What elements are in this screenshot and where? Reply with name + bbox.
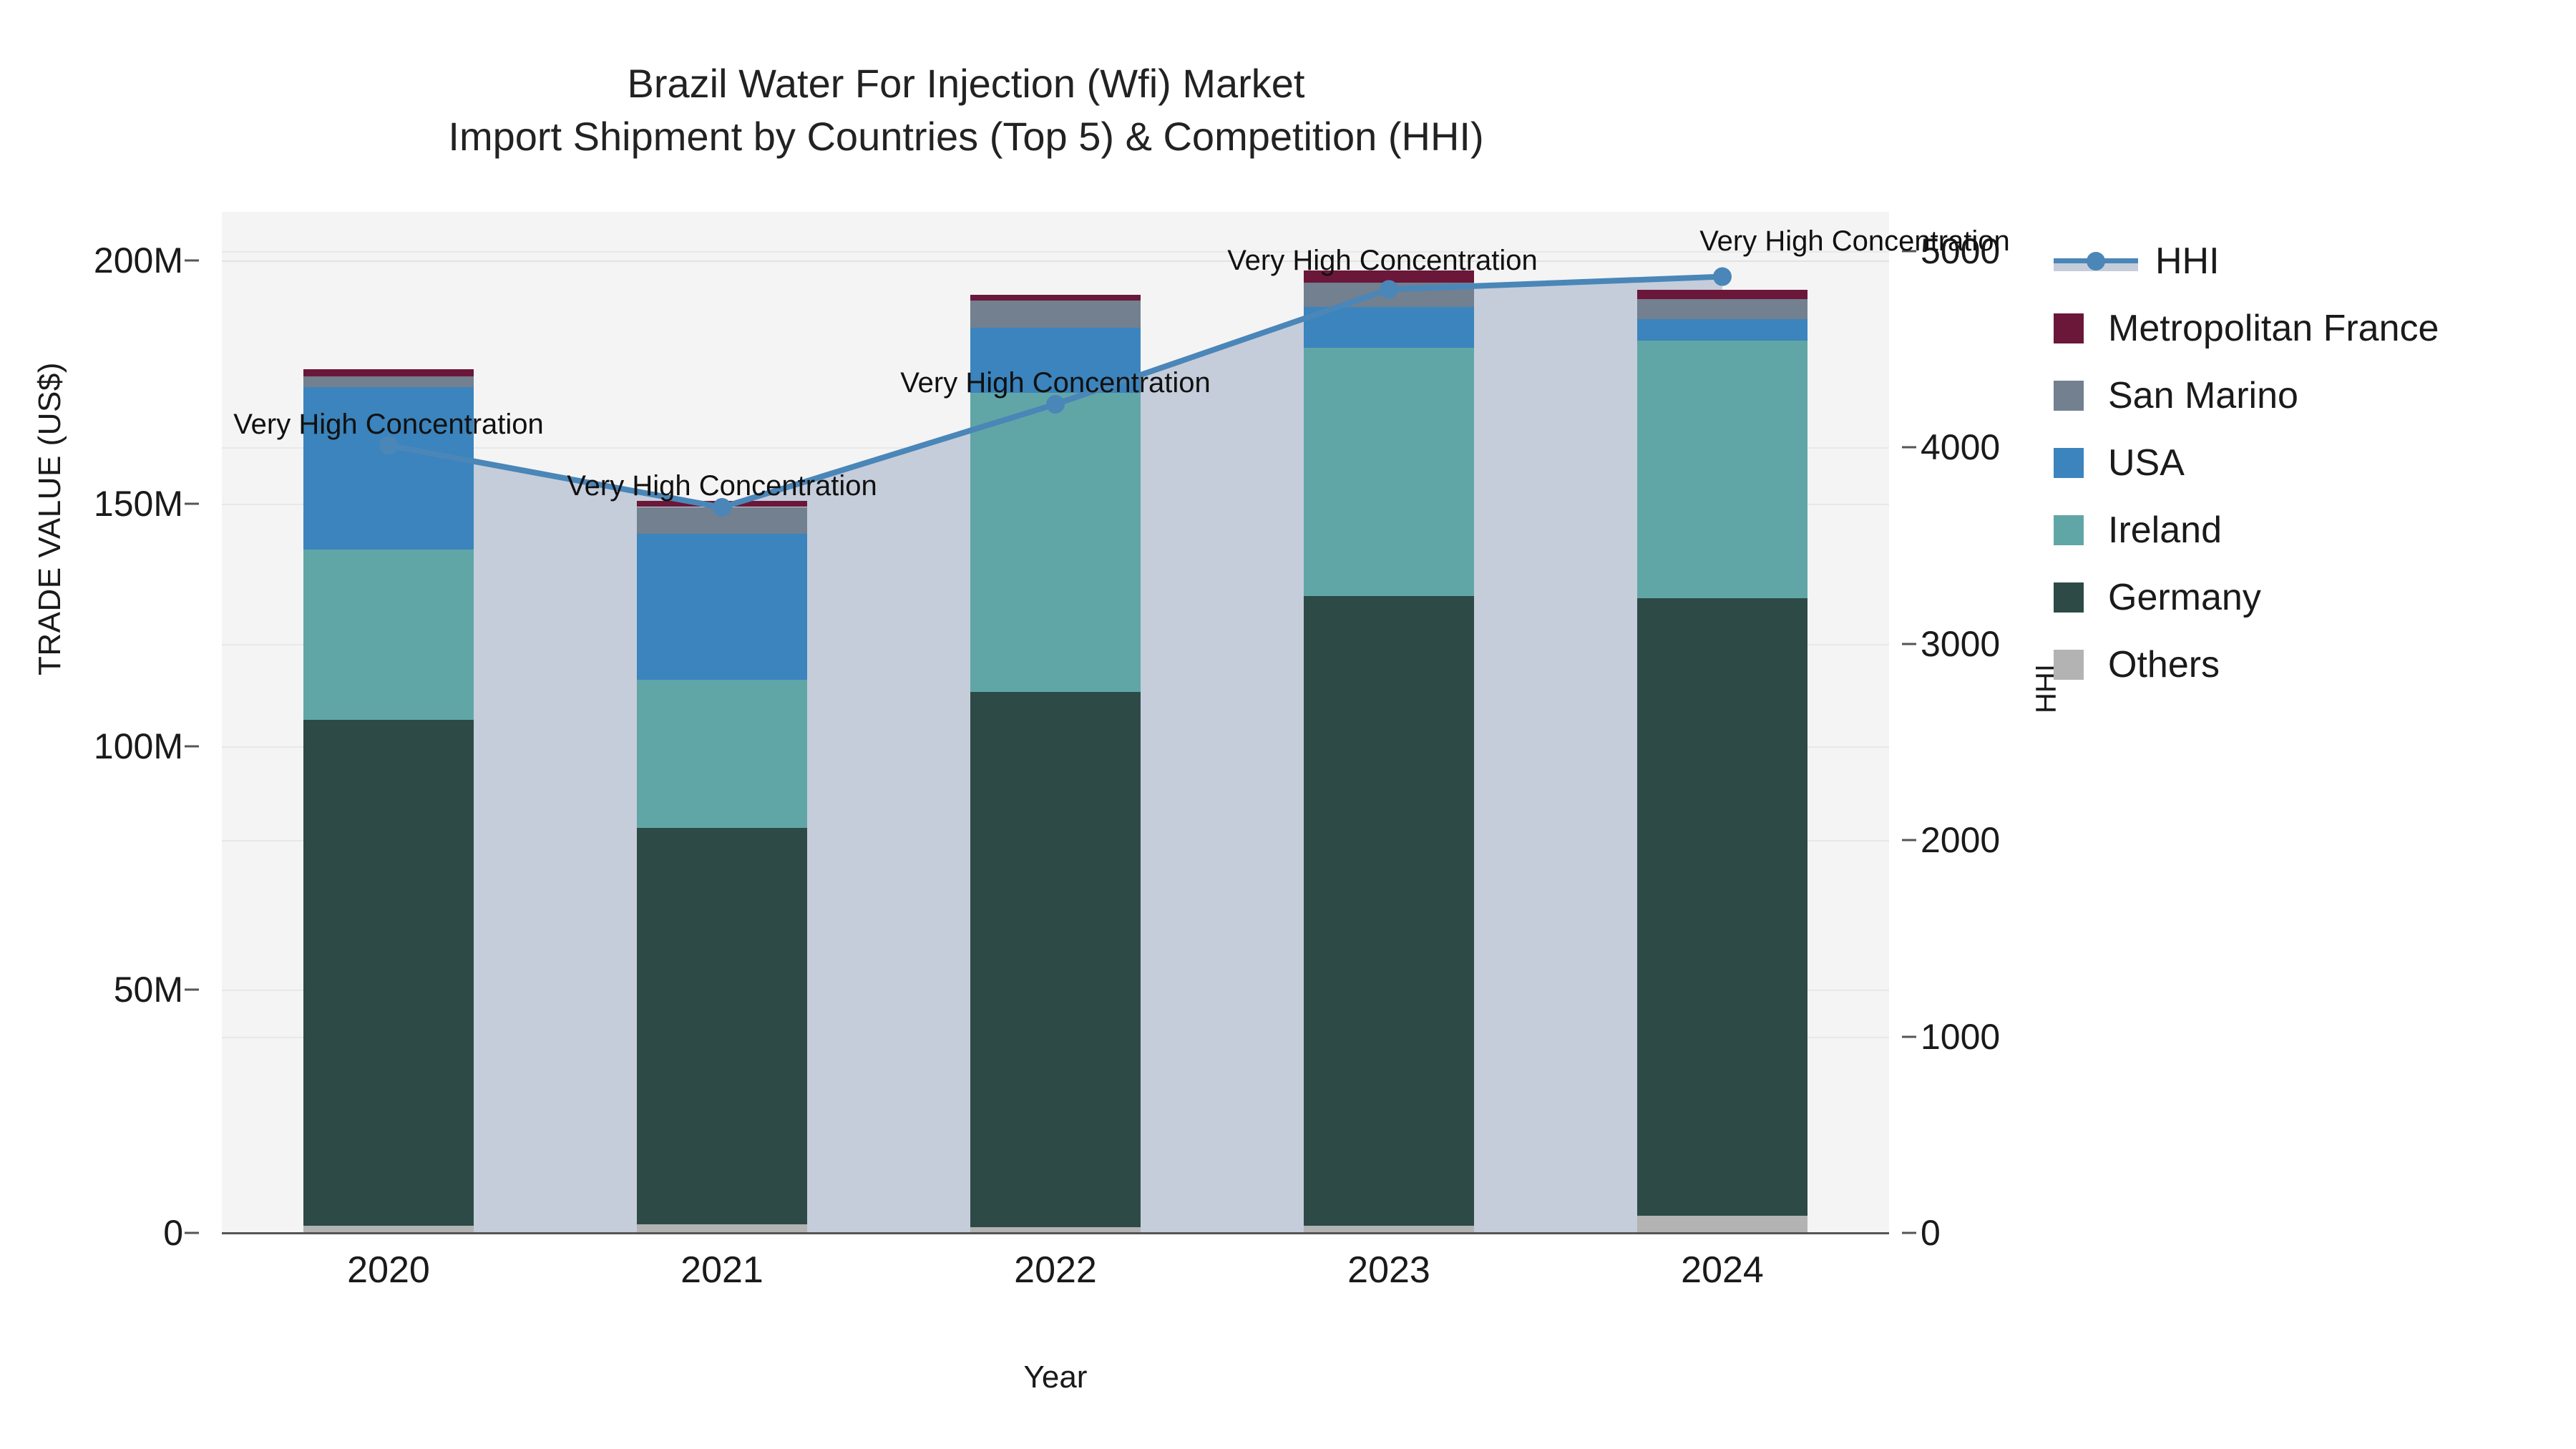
bar-segment-usa[interactable] (1637, 319, 1807, 341)
legend-item-label: San Marino (2108, 374, 2298, 417)
bar-segment-metropolitan-france[interactable] (970, 295, 1141, 301)
legend-item-metropolitan-france[interactable]: Metropolitan France (2054, 295, 2555, 362)
bar-segment-usa[interactable] (1304, 307, 1474, 348)
bar-segment-ireland[interactable] (970, 393, 1141, 692)
bar-segment-ireland[interactable] (637, 680, 807, 828)
y-axis-right-tick-label: 0 (1921, 1212, 1941, 1254)
bar-segment-usa[interactable] (637, 534, 807, 680)
legend-item-label: Germany (2108, 576, 2261, 619)
bar-group-2024[interactable] (1637, 212, 1807, 1233)
legend-color-swatch (2054, 582, 2084, 613)
y-axis-left-tick-label: 50M (114, 969, 183, 1010)
bar-segment-germany[interactable] (970, 692, 1141, 1226)
y-axis-right-tick-label: 1000 (1921, 1016, 2000, 1058)
legend-color-swatch (2054, 515, 2084, 545)
concentration-annotation-2021: Very High Concentration (567, 470, 877, 502)
bar-segment-germany[interactable] (637, 828, 807, 1224)
y-axis-left-tick-mark (185, 502, 199, 504)
plot-area (222, 212, 1889, 1233)
legend-item-label: Ireland (2108, 509, 2222, 552)
legend-color-swatch (2054, 381, 2084, 411)
legend-item-label: USA (2108, 441, 2185, 484)
legend-item-label: HHI (2155, 240, 2220, 283)
x-axis-tick-label-2023: 2023 (1347, 1249, 1430, 1292)
bar-segment-san-marino[interactable] (303, 376, 474, 386)
y-axis-left-title: TRADE VALUE (US$) (32, 197, 68, 841)
x-axis-tick-label-2024: 2024 (1681, 1249, 1764, 1292)
legend-line-icon (2054, 246, 2138, 276)
bar-segment-germany[interactable] (303, 720, 474, 1226)
y-axis-right-tick-label: 4000 (1921, 426, 2000, 468)
legend-color-swatch (2054, 448, 2084, 478)
legend-item-usa[interactable]: USA (2054, 429, 2555, 497)
legend-item-ireland[interactable]: Ireland (2054, 497, 2555, 564)
bar-segment-metropolitan-france[interactable] (1637, 290, 1807, 300)
chart-title-line-2: Import Shipment by Countries (Top 5) & C… (0, 110, 1932, 163)
bar-group-2022[interactable] (970, 212, 1141, 1233)
legend-color-swatch (2054, 313, 2084, 343)
bar-segment-san-marino[interactable] (1637, 299, 1807, 318)
bar-segment-ireland[interactable] (303, 550, 474, 720)
chart-figure: Brazil Water For Injection (Wfi) Market … (0, 0, 2576, 1449)
bar-segment-germany[interactable] (1304, 596, 1474, 1226)
bar-group-2020[interactable] (303, 212, 474, 1233)
chart-legend: HHIMetropolitan FranceSan MarinoUSAIrela… (2054, 228, 2555, 698)
bar-segment-ireland[interactable] (1637, 341, 1807, 598)
bar-group-2023[interactable] (1304, 212, 1474, 1233)
y-axis-left-tick-mark (185, 746, 199, 748)
y-axis-right-tick-mark (1902, 643, 1916, 645)
legend-item-label: Metropolitan France (2108, 307, 2439, 350)
y-axis-left-tick-mark (185, 259, 199, 261)
x-axis-tick-label-2021: 2021 (680, 1249, 763, 1292)
legend-item-hhi[interactable]: HHI (2054, 228, 2555, 295)
x-axis-tick-label-2020: 2020 (347, 1249, 430, 1292)
y-axis-right-tick-mark (1902, 1035, 1916, 1038)
bar-segment-germany[interactable] (1637, 598, 1807, 1216)
chart-title-line-1: Brazil Water For Injection (Wfi) Market (0, 57, 1932, 110)
bar-segment-san-marino[interactable] (970, 301, 1141, 327)
legend-item-san-marino[interactable]: San Marino (2054, 362, 2555, 429)
y-axis-right-tick-mark (1902, 839, 1916, 841)
y-axis-left-tick-label: 200M (94, 240, 183, 281)
legend-item-label: Others (2108, 643, 2220, 686)
legend-marker-dot (2087, 252, 2105, 270)
legend-color-swatch (2054, 650, 2084, 680)
bar-segment-san-marino[interactable] (637, 507, 807, 534)
y-axis-left-tick-label: 0 (163, 1212, 183, 1254)
x-axis-title: Year (222, 1360, 1889, 1395)
chart-title: Brazil Water For Injection (Wfi) Market … (0, 57, 1932, 163)
concentration-annotation-2022: Very High Concentration (900, 367, 1211, 399)
legend-item-germany[interactable]: Germany (2054, 564, 2555, 631)
x-axis-labels: 20202021202220232024 (222, 1249, 1889, 1313)
y-axis-right-tick-label: 2000 (1921, 819, 2000, 861)
bar-group-2021[interactable] (637, 212, 807, 1233)
y-axis-right-tick-mark (1902, 1232, 1916, 1234)
y-axis-right-tick-label: 3000 (1921, 623, 2000, 665)
bar-segment-san-marino[interactable] (1304, 283, 1474, 307)
bar-segment-ireland[interactable] (1304, 348, 1474, 596)
bar-segment-others[interactable] (1637, 1216, 1807, 1233)
bar-segment-metropolitan-france[interactable] (303, 369, 474, 377)
y-axis-right-tick-mark (1902, 447, 1916, 449)
y-axis-left-tick-mark (185, 989, 199, 991)
x-axis-line (222, 1232, 1889, 1234)
concentration-annotation-2024: Very High Concentration (1699, 225, 2010, 258)
x-axis-tick-label-2022: 2022 (1014, 1249, 1097, 1292)
concentration-annotation-2023: Very High Concentration (1227, 245, 1538, 277)
legend-item-others[interactable]: Others (2054, 631, 2555, 698)
y-axis-left-tick-mark (185, 1232, 199, 1234)
y-axis-left-tick-label: 150M (94, 483, 183, 525)
y-axis-left-tick-label: 100M (94, 726, 183, 767)
concentration-annotation-2020: Very High Concentration (233, 409, 544, 441)
